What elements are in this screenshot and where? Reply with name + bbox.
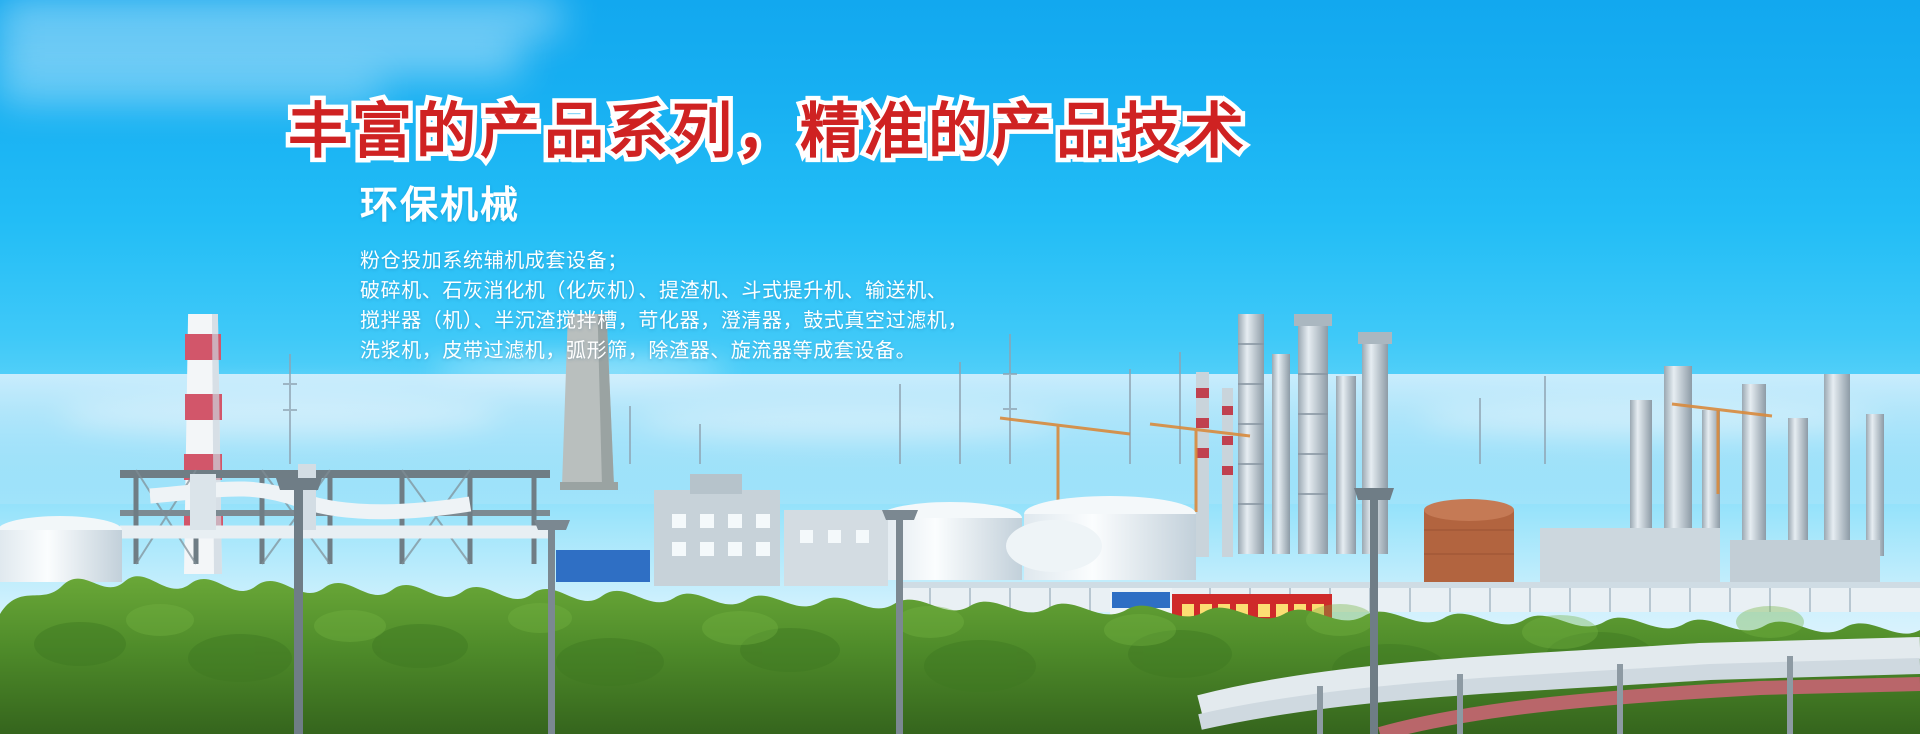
- page-title: 丰富的产品系列，精准的产品技术: [288, 96, 1248, 168]
- description-line: 粉仓投加系统辅机成套设备；: [360, 246, 1468, 276]
- banner-copy: 丰富的产品系列，精准的产品技术 丰富的产品系列，精准的产品技术 环保机械 粉仓投…: [288, 96, 1468, 366]
- blue-roof-building: [556, 550, 650, 582]
- subtitle: 环保机械: [360, 184, 1468, 230]
- cloud-shape: [0, 0, 560, 36]
- description-line: 破碎机、石灰消化机（化灰机）、提渣机、斗式提升机、输送机、: [360, 276, 1468, 306]
- description-line: 搅拌器（机）、半沉渣搅拌槽，苛化器，澄清器，鼓式真空过滤机，: [360, 306, 1468, 336]
- cloud-shape: [0, 36, 520, 76]
- description-block: 粉仓投加系统辅机成套设备； 破碎机、石灰消化机（化灰机）、提渣机、斗式提升机、输…: [360, 246, 1468, 366]
- headline-wrap: 丰富的产品系列，精准的产品技术 丰富的产品系列，精准的产品技术: [288, 96, 1468, 170]
- description-line: 洗浆机，皮带过滤机，弧形筛，除渣器、旋流器等成套设备。: [360, 336, 1468, 366]
- industrial-plant-scene: [0, 314, 1920, 734]
- hero-banner: 丰富的产品系列，精准的产品技术 丰富的产品系列，精准的产品技术 环保机械 粉仓投…: [0, 0, 1920, 734]
